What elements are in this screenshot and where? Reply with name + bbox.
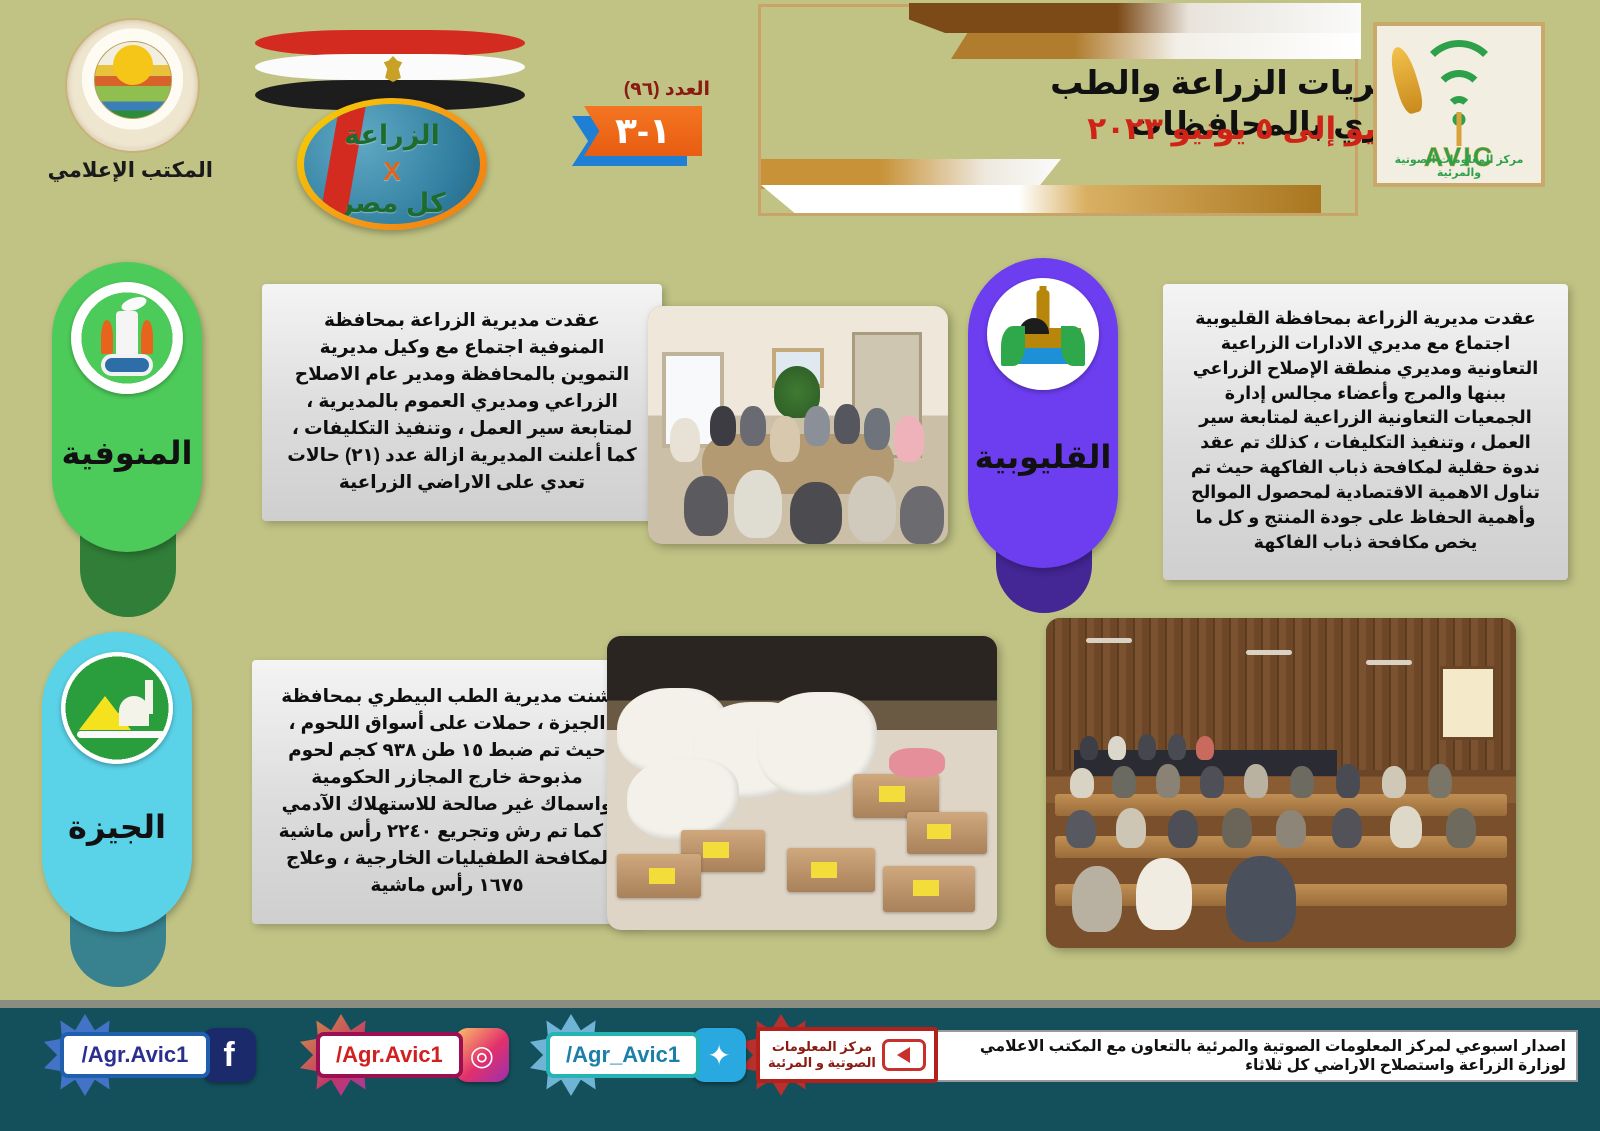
social-facebook[interactable]: f /Agr.Avic1 [60,1026,256,1084]
instagram-icon[interactable]: ◎ [455,1028,509,1082]
facebook-icon[interactable]: f [202,1028,256,1082]
campaign-line-3: كل مصر [304,188,480,219]
title-decor-bar-top-a [909,3,1361,33]
social-youtube[interactable]: مركز المعلومات الصوتية و المرئية [756,1026,938,1084]
youtube-text-line1: مركز المعلومات [768,1039,876,1055]
twitter-icon[interactable]: ✦ [692,1028,746,1082]
media-office-label: المكتب الإعلامي [53,158,213,183]
card-text-panel-monufia: عقدت مديرية الزراعة بمحافظة المنوفية اجت… [262,284,662,521]
auditorium-seminar-photo [1046,618,1516,948]
governorate-name: الجيزة [42,808,192,846]
ministry-logo: المكتب الإعلامي [65,18,200,178]
twitter-handle[interactable]: /Agr_Avic1 [546,1032,700,1078]
issue-number: ١-٣ [615,110,671,152]
seized-meat-photo [607,636,997,930]
instagram-handle[interactable]: /Agr.Avic1 [316,1032,463,1078]
window [1440,666,1496,740]
governorate-badge-monufia[interactable]: المنوفية [52,262,202,552]
governorate-name: المنوفية [52,434,202,472]
youtube-text-line2: الصوتية و المرئية [768,1055,876,1071]
campaign-badge-globe: الزراعة X كل مصر [304,104,480,224]
card-text-panel-qalyubia: عقدت مديرية الزراعة بمحافظة القليوبية اج… [1163,284,1568,580]
title-decor-bar-bottom-b [761,185,1321,213]
card-text: عقدت مديرية الزراعة بمحافظة القليوبية اج… [1187,306,1544,554]
page-footer: f /Agr.Avic1 ◎ /Agr.Avic1 ✦ /Agr_Avic1 م… [0,1000,1600,1131]
card-text-panel-giza: شنت مديرية الطب البيطري بمحافظة الجيزة ،… [252,660,642,924]
footer-caption: اصدار اسبوعي لمركز المعلومات الصوتية وال… [918,1030,1578,1082]
page-header: المكتب الإعلامي الزراعة X كل مصر العدد (… [0,0,1600,248]
campaign-badge: الزراعة X كل مصر [297,98,487,230]
avic-stem [1457,112,1462,146]
card-text: شنت مديرية الطب البيطري بمحافظة الجيزة ،… [276,682,618,898]
giza-emblem-icon [61,652,173,764]
social-instagram[interactable]: ◎ /Agr.Avic1 [316,1026,509,1084]
ceiling-fan [1246,650,1292,655]
avic-logo: AVIC مركز المعلومات الصوتية والمرئية [1373,22,1545,187]
title-decor-bar-top-b [951,33,1361,59]
title-decor-bar-bottom-a [761,159,1061,189]
sun-icon [113,45,153,85]
facebook-handle[interactable]: /Agr.Avic1 [60,1032,210,1078]
issue-label: العدد (٩٦) [624,78,710,101]
governorate-badge-qalyubia[interactable]: القليوبية [968,258,1118,568]
qalyubia-emblem-icon [987,278,1099,390]
meeting-room-photo [648,306,948,544]
flag-red-band [255,30,525,56]
malr-seal-icon [65,18,200,153]
card-text: عقدت مديرية الزراعة بمحافظة المنوفية اجت… [286,306,638,495]
ceiling-fan [1086,638,1132,643]
broadcast-signal-icon [1405,44,1513,122]
footer-divider [0,1000,1600,1008]
youtube-icon[interactable] [882,1039,926,1071]
malr-emblem-inner [94,41,172,119]
issue-number-badge: العدد (٩٦) ١-٣ [572,78,712,178]
youtube-badge[interactable]: مركز المعلومات الصوتية و المرئية [756,1027,938,1083]
monufia-emblem-icon [71,282,183,394]
campaign-line-1: الزراعة [304,120,480,151]
campaign-line-2: X [304,156,480,187]
governorate-badge-giza[interactable]: الجيزة [42,632,192,932]
avic-caption: مركز المعلومات الصوتية والمرئية [1377,153,1541,179]
social-twitter[interactable]: ✦ /Agr_Avic1 [546,1026,746,1084]
ceiling-fan [1366,660,1412,665]
issue-ribbon: ١-٣ [584,106,702,156]
governorate-name: القليوبية [968,438,1118,476]
